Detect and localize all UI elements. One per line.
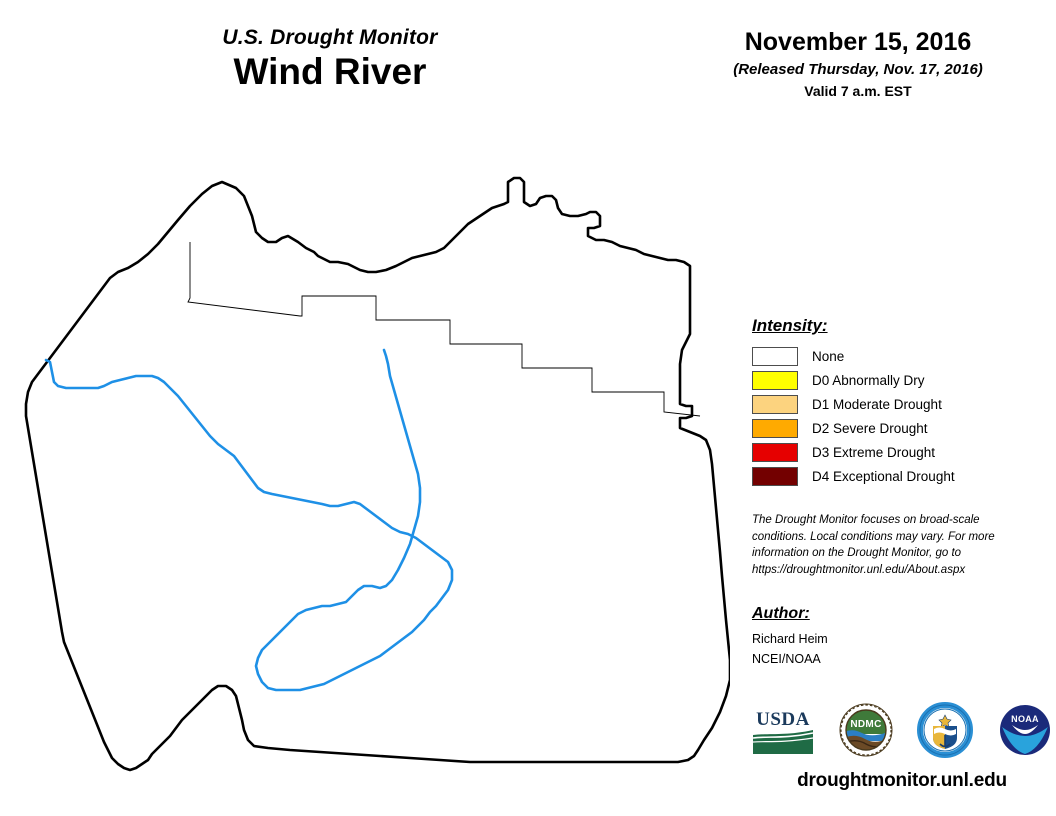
product-title: U.S. Drought Monitor <box>0 26 660 49</box>
valid-date: November 15, 2016 <box>660 28 1056 57</box>
released-date: (Released Thursday, Nov. 17, 2016) <box>660 60 1056 80</box>
legend-swatch-none <box>752 347 798 366</box>
author-name: Richard Heim <box>752 630 1052 648</box>
legend-swatch-d4 <box>752 467 798 486</box>
legend-item-d4[interactable]: D4 Exceptional Drought <box>752 465 1052 488</box>
region-boundary-outline <box>26 178 730 770</box>
noaa-logo[interactable]: NOAA <box>998 703 1052 762</box>
svg-text:USDA: USDA <box>756 709 810 730</box>
legend-label-d3: D3 Extreme Drought <box>812 445 935 460</box>
legend-item-d3[interactable]: D3 Extreme Drought <box>752 441 1052 464</box>
author-affiliation: NCEI/NOAA <box>752 650 1052 668</box>
legend-title: Intensity: <box>752 316 1052 336</box>
page-title: Wind River <box>0 51 660 94</box>
unl-seal-logo[interactable] <box>917 702 973 763</box>
svg-text:NOAA: NOAA <box>1011 714 1039 724</box>
legend-item-d0[interactable]: D0 Abnormally Dry <box>752 369 1052 392</box>
header-left-block: U.S. Drought Monitor Wind River <box>0 26 660 94</box>
legend-swatch-d1 <box>752 395 798 414</box>
legend-swatch-d0 <box>752 371 798 390</box>
map-svg[interactable] <box>0 120 730 810</box>
svg-text:NDMC: NDMC <box>850 719 881 730</box>
legend-swatch-d3 <box>752 443 798 462</box>
valid-time: Valid 7 a.m. EST <box>660 82 1056 100</box>
logo-strip: USDA NDMC <box>752 702 1052 763</box>
legend-item-d1[interactable]: D1 Moderate Drought <box>752 393 1052 416</box>
legend-label-none: None <box>812 349 844 364</box>
legend-panel: Intensity: None D0 Abnormally Dry D1 Mod… <box>752 316 1052 668</box>
legend-item-d2[interactable]: D2 Severe Drought <box>752 417 1052 440</box>
legend-item-none[interactable]: None <box>752 345 1052 368</box>
author-title: Author: <box>752 605 1052 623</box>
ndmc-logo[interactable]: NDMC <box>839 703 893 762</box>
legend-label-d0: D0 Abnormally Dry <box>812 373 925 388</box>
legend-label-d2: D2 Severe Drought <box>812 421 928 436</box>
drought-map[interactable] <box>0 120 730 810</box>
legend-label-d4: D4 Exceptional Drought <box>812 469 955 484</box>
legend-swatch-d2 <box>752 419 798 438</box>
header-right-block: November 15, 2016 (Released Thursday, No… <box>660 28 1056 100</box>
usda-logo[interactable]: USDA <box>752 705 814 760</box>
disclaimer-text: The Drought Monitor focuses on broad-sca… <box>752 512 1014 579</box>
site-url[interactable]: droughtmonitor.unl.edu <box>752 770 1052 792</box>
legend-label-d1: D1 Moderate Drought <box>812 397 942 412</box>
